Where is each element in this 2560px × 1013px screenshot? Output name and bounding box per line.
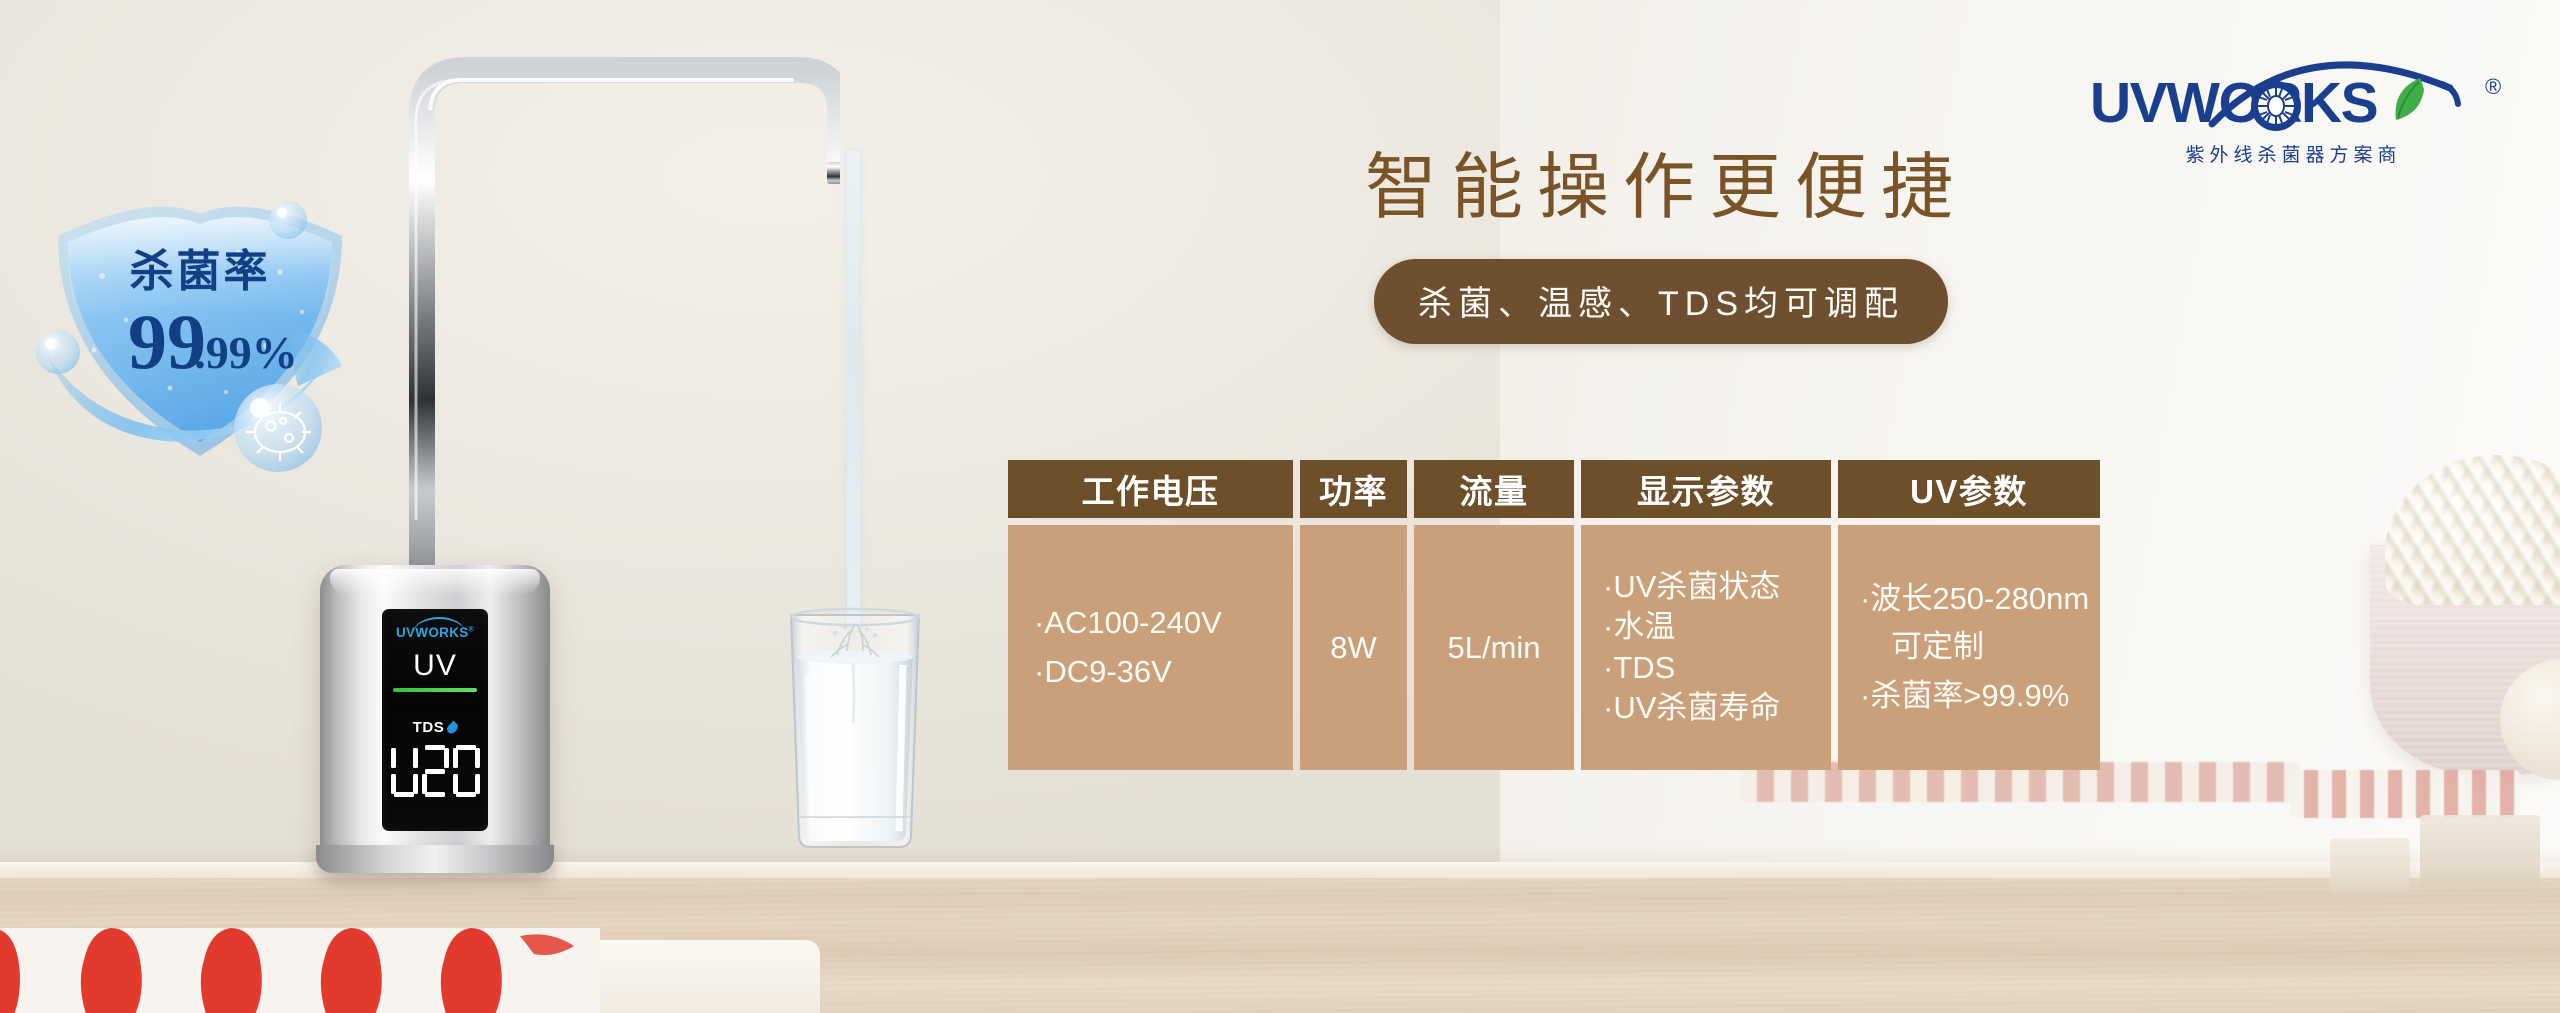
chrome-faucet [400,50,840,580]
screen-status-bar [393,688,477,692]
screen-tds-label: TDS [382,719,488,736]
leaf-icon [2386,74,2430,126]
shield-icon: 杀菌率 99 .99% [30,180,370,500]
spec-column-voltage: 工作电压 ·AC100-240V ·DC9-36V [1008,460,1293,770]
uv-sterilizer-device: UVWORKS® UV TDS [320,565,550,865]
badge-label: 杀菌率 [130,247,271,296]
spec-line: ·杀菌率>99.9% [1860,672,2078,720]
spec-line: 8W [1330,630,1377,666]
spec-line: 可定制 [1860,623,2078,671]
spec-body: ·UV杀菌状态 ·水温 ·TDS ·UV杀菌寿命 [1581,525,1831,770]
spec-line: ·TDS [1603,648,1809,688]
spec-header: 流量 [1414,460,1574,518]
spec-line: ·波长250-280nm [1860,575,2078,623]
water-drop-icon [445,721,460,736]
spec-line: ·UV杀菌寿命 [1603,688,1809,728]
feature-pill: 杀菌、温感、TDS均可调配 [1374,259,1948,344]
prop-block-1 [2420,815,2540,887]
spec-column-uv: UV参数 ·波长250-280nm 可定制 ·杀菌率>99.9% [1838,460,2100,770]
spec-table: 工作电压 ·AC100-240V ·DC9-36V 功率 8W 流量 5L/mi… [1008,460,2300,770]
brand-logo: UVWORKS ® 紫外线杀菌器方案商 [2090,36,2510,166]
faucet-icon [400,50,840,580]
checkered-cloth-right [2290,770,2520,818]
spec-body: 5L/min [1414,525,1574,770]
device-base [316,845,554,873]
spec-line: ·水温 [1603,607,1809,647]
spec-body: ·波长250-280nm 可定制 ·杀菌率>99.9% [1838,525,2100,770]
spec-line: ·UV杀菌状态 [1603,567,1809,607]
spec-header: 显示参数 [1581,460,1831,518]
product-banner: 杀菌率 99 .99% UVWORKS® UV TDS [0,0,2560,1013]
screen-brand-text: UVWORKS [396,625,469,640]
sunburst-icon [2250,80,2302,132]
screen-mode-label: UV [382,649,488,683]
badge-value-small: .99% [194,327,298,378]
page-title: 智能操作更便捷 [1365,128,1967,233]
spec-line: 5L/min [1447,630,1540,666]
water-stream [847,150,860,630]
seven-segment-display-icon [389,743,481,799]
logo-tagline: 紫外线杀菌器方案商 [2096,140,2491,167]
spec-line: ·AC100-240V [1034,599,1271,647]
screen-brand-reg: ® [469,627,474,634]
logo-registered-icon: ® [2485,74,2501,100]
device-highlight [330,569,540,595]
screen-tds-value [382,743,488,804]
sterilization-rate-badge: 杀菌率 99 .99% [30,180,370,500]
spec-line: ·DC9-36V [1034,648,1271,696]
spec-body: 8W [1300,525,1407,770]
spec-column-power: 功率 8W [1300,460,1407,770]
spec-header: 功率 [1300,460,1407,518]
checkered-cloth [0,910,600,1013]
spec-column-flow: 流量 5L/min [1414,460,1574,770]
tds-text: TDS [413,719,445,736]
spec-header: 工作电压 [1008,460,1293,518]
screen-brand-logo: UVWORKS® [382,625,488,640]
device-screen: UVWORKS® UV TDS [382,609,488,831]
spec-body: ·AC100-240V ·DC9-36V [1008,525,1293,770]
water-glass [775,605,935,855]
prop-block-2 [2330,838,2410,893]
spec-header: UV参数 [1838,460,2100,518]
spec-column-display: 显示参数 ·UV杀菌状态 ·水温 ·TDS ·UV杀菌寿命 [1581,460,1831,770]
cloth-pattern-icon [0,910,600,1013]
